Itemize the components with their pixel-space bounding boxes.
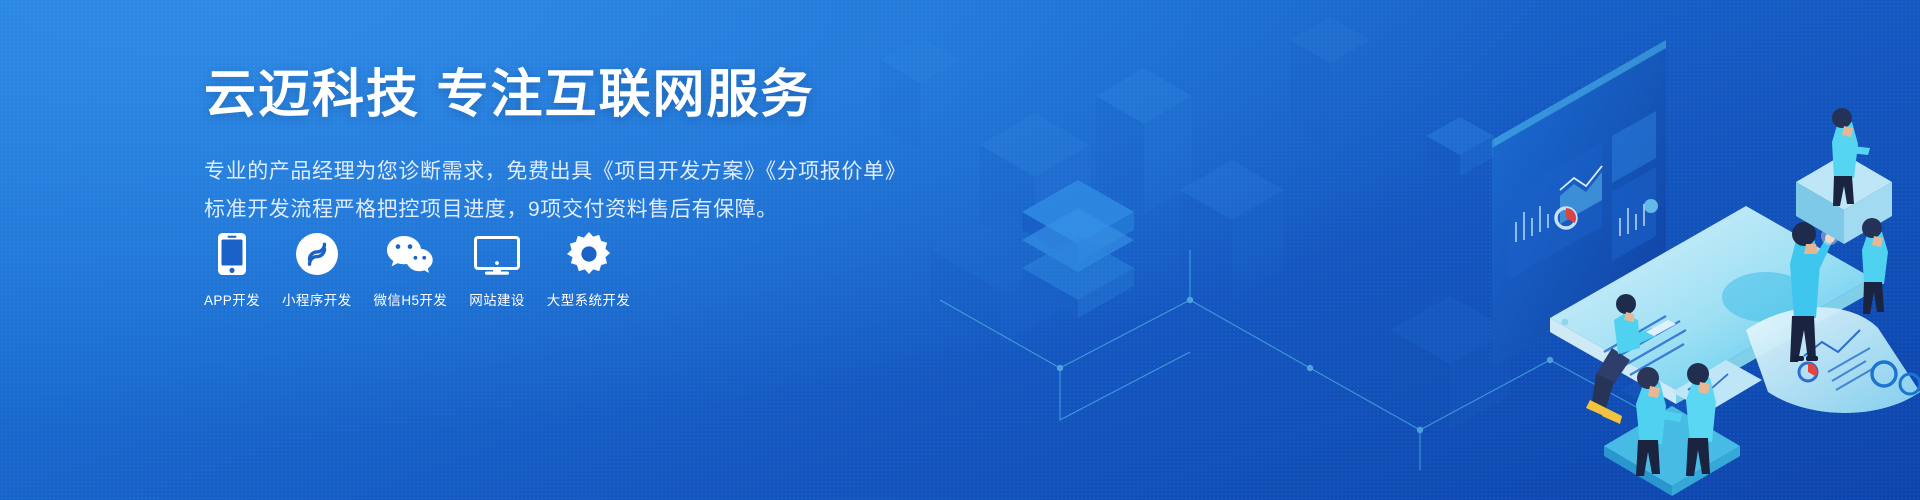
hero-banner: 云迈科技 专注互联网服务 专业的产品经理为您诊断需求，免费出具《项目开发方案》《… xyxy=(0,0,1920,500)
gear-icon xyxy=(567,228,611,276)
service-item-wechat-h5[interactable]: 微信H5开发 xyxy=(374,228,448,309)
service-list: APP开发 小程序开发 xyxy=(204,228,630,309)
page-title: 云迈科技 专注互联网服务 xyxy=(204,66,1104,126)
service-label: APP开发 xyxy=(204,289,260,309)
service-label: 网站建设 xyxy=(469,289,525,309)
mobile-phone-icon xyxy=(217,228,247,276)
subtitle-line-2: 标准开发流程严格把控项目进度，9项交付资料售后有保障。 xyxy=(204,191,1104,229)
monitor-icon xyxy=(474,228,520,276)
subtitle-line-1: 专业的产品经理为您诊断需求，免费出具《项目开发方案》《分项报价单》 xyxy=(204,153,1104,191)
service-label: 小程序开发 xyxy=(282,289,352,309)
floating-mini-panel xyxy=(1426,117,1494,176)
service-label: 大型系统开发 xyxy=(547,289,630,309)
wechat-icon xyxy=(385,228,435,276)
service-item-app[interactable]: APP开发 xyxy=(204,228,260,309)
banner-subtitle: 专业的产品经理为您诊断需求，免费出具《项目开发方案》《分项报价单》 标准开发流程… xyxy=(204,153,1104,229)
banner-copy: 云迈科技 专注互联网服务 专业的产品经理为您诊断需求，免费出具《项目开发方案》《… xyxy=(204,66,1104,229)
service-label: 微信H5开发 xyxy=(374,289,448,309)
mini-program-icon xyxy=(295,228,339,276)
service-item-website[interactable]: 网站建设 xyxy=(469,228,525,309)
person-standing-right xyxy=(1862,218,1888,314)
service-item-miniprogram[interactable]: 小程序开发 xyxy=(282,228,352,309)
service-item-large-system[interactable]: 大型系统开发 xyxy=(547,228,630,309)
